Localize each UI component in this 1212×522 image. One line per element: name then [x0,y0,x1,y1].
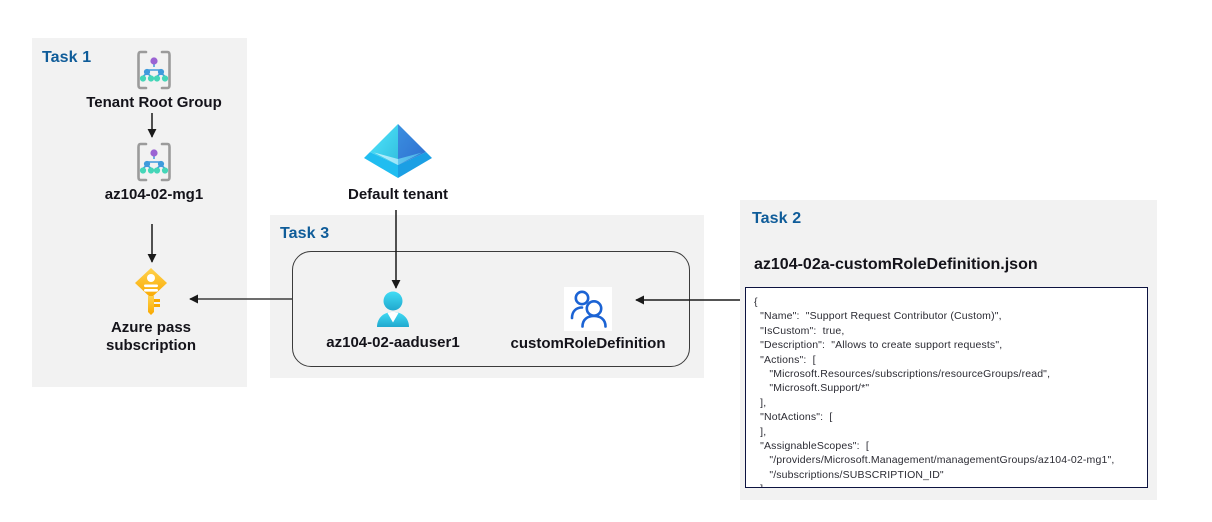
key-icon [56,265,246,317]
node-label: az104-02-mg1 [66,186,242,204]
task-3-label: Task 3 [280,225,329,243]
node-label: customRoleDefinition [500,335,676,353]
node-az104-02-aaduser1[interactable]: az104-02-aaduser1 [310,288,476,352]
node-label: Azure pass subscription [56,319,246,356]
json-code-box: { "Name": "Support Request Contributor (… [745,287,1148,488]
user-icon [310,288,476,332]
node-azure-pass-subscription[interactable]: Azure pass subscription [56,265,246,356]
role-definition-icon [500,285,676,333]
node-label-line2: subscription [56,337,246,355]
management-group-icon [66,48,242,92]
node-az104-02-mg1[interactable]: az104-02-mg1 [66,140,242,204]
node-default-tenant[interactable]: Default tenant [320,118,476,204]
tenant-icon [320,118,476,184]
node-label: Default tenant [320,186,476,204]
task-2-label: Task 2 [752,210,801,228]
json-code-text: { "Name": "Support Request Contributor (… [746,288,1147,488]
node-custom-role-definition[interactable]: customRoleDefinition [500,285,676,353]
diagram-canvas: Task 1 Task 3 Task 2 [0,0,1212,522]
node-tenant-root-group[interactable]: Tenant Root Group [66,48,242,112]
json-filename-label: az104-02a-customRoleDefinition.json [754,256,1038,274]
management-group-icon [66,140,242,184]
node-label: Tenant Root Group [66,94,242,112]
node-label: az104-02-aaduser1 [310,334,476,352]
node-label-line1: Azure pass [56,319,246,337]
